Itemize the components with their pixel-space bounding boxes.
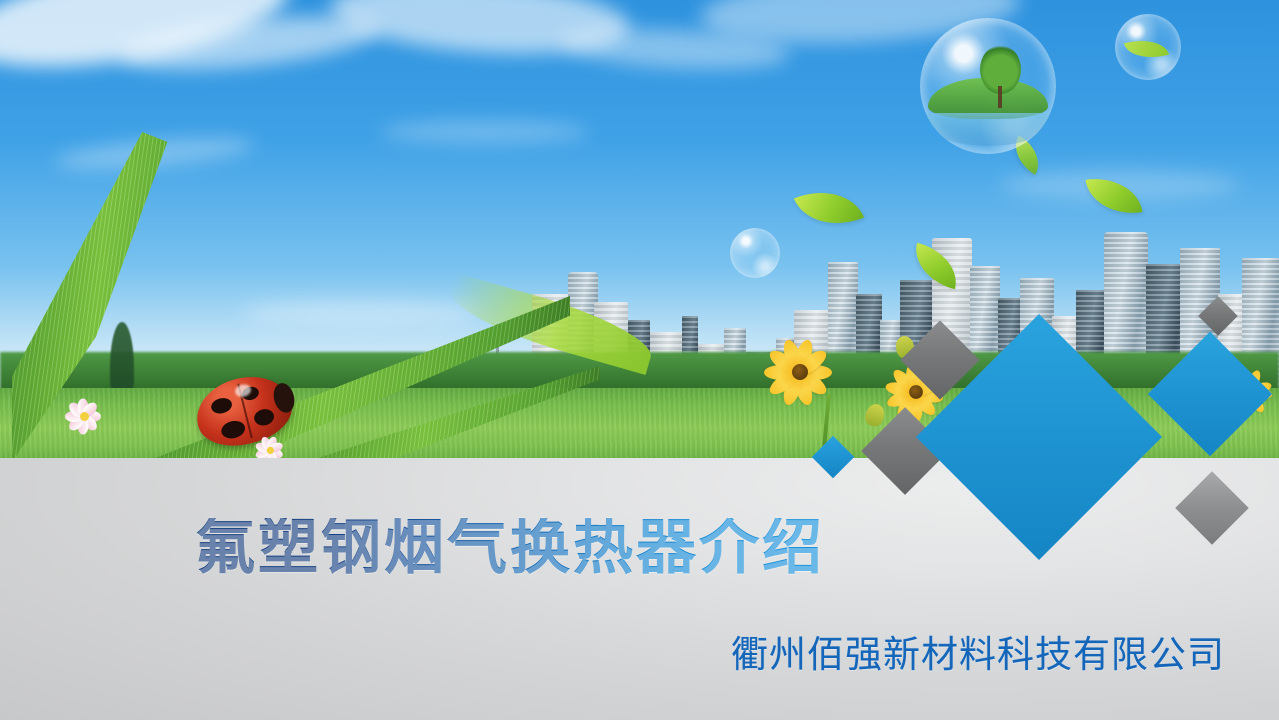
soap-bubble-small-icon — [730, 228, 780, 278]
cloud-shape — [380, 120, 590, 144]
cypress-tree — [110, 322, 134, 394]
company-name: 衢州佰强新材料科技有限公司 — [731, 636, 1225, 673]
ladybug-spot — [252, 407, 275, 427]
cosmos-flower-icon — [254, 434, 286, 460]
bubble-leaf — [1123, 33, 1168, 65]
soap-bubble-island-icon — [920, 18, 1056, 154]
page-title: 氟塑钢烟气换热器介绍 — [195, 518, 825, 578]
ladybug-spot — [220, 418, 247, 440]
bubble-water-reflection — [925, 113, 1050, 146]
ladybug-spot — [210, 395, 234, 415]
soap-bubble-leaf-icon — [1115, 14, 1181, 80]
title-slide: 氟塑钢烟气换热器介绍 衢州佰强新材料科技有限公司 — [0, 0, 1279, 720]
cloud-shape — [240, 300, 480, 326]
bubble-tree-trunk — [998, 86, 1002, 108]
cosmos-flower-icon — [64, 396, 104, 436]
